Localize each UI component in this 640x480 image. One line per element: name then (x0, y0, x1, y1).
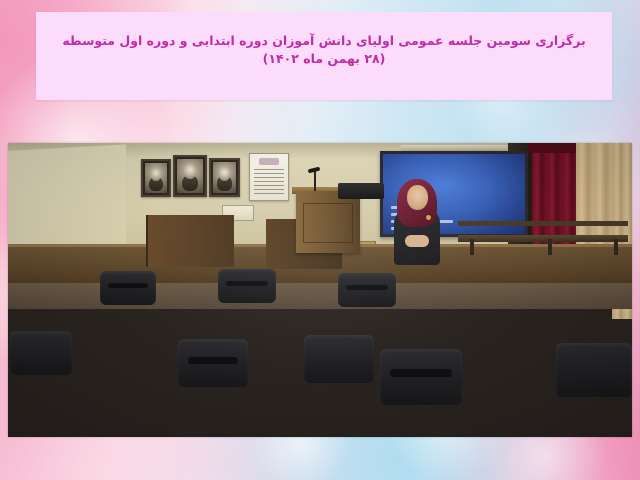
portrait-image (213, 162, 236, 193)
poster-text-line (254, 193, 284, 194)
bench-backrest (458, 221, 628, 226)
chair-backrest (10, 331, 72, 375)
portrait-image (145, 163, 167, 193)
chair-backrest (304, 335, 374, 383)
poster-text-line (254, 169, 284, 170)
event-photo (8, 143, 632, 437)
portrait-image (177, 159, 203, 193)
podium-front-panel (303, 203, 353, 243)
chair-backrest (338, 273, 396, 307)
poster-text-line (254, 189, 284, 190)
presenter-hands (405, 235, 429, 247)
presenter-badge (426, 215, 431, 220)
poster-heading-block (259, 158, 279, 165)
title-text-block: برگزاری سومین جلسه عمومی اولیای دانش آمو… (36, 32, 612, 68)
wooden-door (146, 215, 234, 267)
title-line-primary: برگزاری سومین جلسه عمومی اولیای دانش آمو… (36, 32, 612, 50)
poster-text-line (254, 181, 284, 182)
chair-backrest (100, 271, 156, 305)
podium (296, 191, 360, 253)
wall-portrait-frame (173, 155, 207, 197)
chair-backrest (380, 349, 462, 405)
chair-slot (108, 283, 148, 288)
chair-slot (188, 357, 238, 364)
portrait-face (219, 167, 230, 181)
title-line-date: (۲۸ بهمن ماه ۱۴۰۲) (36, 50, 612, 68)
chair-backrest (218, 269, 276, 303)
microphone-stand (314, 171, 316, 191)
bench-seat (458, 235, 628, 242)
chair-backrest (556, 343, 632, 397)
bench-leg (470, 239, 474, 255)
poster-text-line (254, 177, 284, 178)
poster-text-line (254, 185, 284, 186)
chair-slot (390, 369, 452, 377)
av-console (338, 183, 384, 199)
poster-text-line (254, 173, 284, 174)
bench-leg (548, 239, 552, 255)
presentation-slide: برگزاری سومین جلسه عمومی اولیای دانش آمو… (0, 0, 640, 480)
chair-slot (346, 285, 388, 290)
wall-portrait-frame (209, 158, 240, 197)
presenter-face (407, 185, 428, 210)
wall-portrait-frame (141, 159, 171, 197)
bench-leg (614, 239, 618, 255)
chair-slot (226, 281, 268, 286)
wall-poster (249, 153, 289, 201)
title-banner: برگزاری سومین جلسه عمومی اولیای دانش آمو… (36, 12, 612, 100)
portrait-face (151, 168, 162, 181)
wall-left-panel (8, 144, 126, 255)
